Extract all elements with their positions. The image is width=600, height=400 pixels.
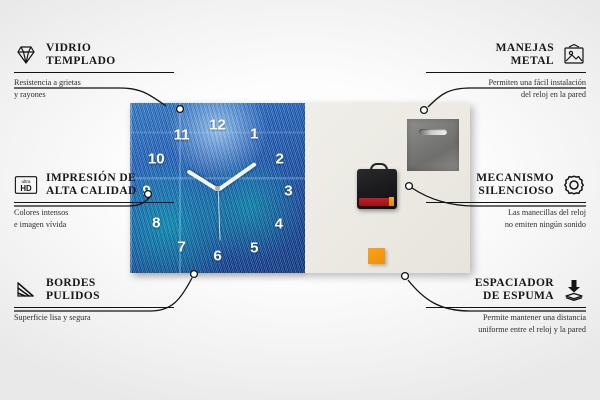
infographic-canvas: 12 1 2 3 4 5 6 7 8 9 10 11 — [0, 0, 600, 400]
feature-header: ESPACIADOR DE ESPUMA — [426, 277, 586, 303]
clock-numeral-3: 3 — [284, 184, 292, 199]
foam-spacer-icon — [562, 278, 586, 302]
clock-numeral-9: 9 — [142, 184, 150, 199]
feature-title: MANEJAS METAL — [496, 42, 554, 68]
feature-vidrio-templado: VIDRIO TEMPLADO Resistencia a grietas y … — [14, 42, 174, 100]
feature-title: IMPRESIÓN DE ALTA CALIDAD — [46, 172, 137, 198]
feature-header: VIDRIO TEMPLADO — [14, 42, 174, 68]
mechanism-hanging-loop — [370, 163, 388, 174]
clock-hand-cap — [215, 186, 220, 191]
clock-numeral-6: 6 — [213, 249, 221, 264]
feature-description: Permiten una fácil instalación del reloj… — [426, 77, 586, 99]
feature-title: MECANISMO SILENCIOSO — [476, 172, 554, 198]
feature-description: Permite mantener una distancia uniforme … — [426, 312, 586, 334]
metal-hanger-plate — [407, 119, 459, 171]
clock-mechanism — [357, 169, 397, 209]
feature-title: VIDRIO TEMPLADO — [46, 42, 116, 68]
feature-title: BORDES PULIDOS — [46, 277, 100, 303]
clock-numeral-7: 7 — [177, 239, 185, 254]
battery-tip — [389, 197, 394, 206]
feature-espaciador-espuma: ESPACIADOR DE ESPUMA Permite mantener un… — [426, 277, 586, 335]
feature-description: Las manecillas del reloj no emiten ningú… — [426, 207, 586, 229]
battery — [359, 198, 393, 206]
feature-bordes-pulidos: BORDES PULIDOS Superficie lisa y segura — [14, 277, 174, 324]
gear-icon — [562, 173, 586, 197]
clock-numeral-2: 2 — [275, 152, 283, 167]
product-photo: 12 1 2 3 4 5 6 7 8 9 10 11 — [130, 103, 470, 273]
feature-description: Resistencia a grietas y rayones — [14, 77, 174, 99]
clock-second-hand — [217, 189, 220, 241]
clock-numeral-8: 8 — [152, 215, 160, 230]
feature-header: BORDES PULIDOS — [14, 277, 174, 303]
polished-edges-icon — [14, 278, 38, 302]
foam-spacer — [368, 248, 385, 264]
connector-dot-spacer — [402, 273, 409, 280]
wall-hanging-icon — [562, 43, 586, 67]
diamond-icon — [14, 43, 38, 67]
feature-divider — [14, 72, 174, 73]
clock-minute-hand — [216, 162, 256, 192]
feature-manejas-metal: MANEJAS METAL Permiten una fácil instala… — [426, 42, 586, 100]
feature-description: Colores intensos e imagen vívida — [14, 207, 174, 229]
ultra-hd-icon: ultra HD — [14, 173, 38, 197]
clock-numeral-4: 4 — [275, 216, 283, 231]
feature-title: ESPACIADOR DE ESPUMA — [475, 277, 554, 303]
svg-text:HD: HD — [20, 184, 32, 193]
feature-divider — [14, 307, 174, 308]
feature-header: MECANISMO SILENCIOSO — [426, 172, 586, 198]
clock-numeral-5: 5 — [250, 240, 258, 255]
feature-divider — [426, 72, 586, 73]
feature-description: Superficie lisa y segura — [14, 312, 174, 323]
feature-divider — [426, 202, 586, 203]
clock-numeral-1: 1 — [250, 127, 258, 142]
clock-numeral-10: 10 — [148, 152, 165, 167]
feature-header: MANEJAS METAL — [426, 42, 586, 68]
feature-mecanismo-silencioso: MECANISMO SILENCIOSO Las manecillas del … — [426, 172, 586, 230]
hanger-slot — [419, 129, 447, 135]
feature-impresion-alta-calidad: ultra HD IMPRESIÓN DE ALTA CALIDAD Color… — [14, 172, 174, 230]
clock-numeral-12: 12 — [209, 118, 226, 133]
clock-hour-hand — [186, 169, 219, 191]
feature-divider — [426, 307, 586, 308]
feature-divider — [14, 202, 174, 203]
clock-numeral-11: 11 — [174, 128, 190, 143]
